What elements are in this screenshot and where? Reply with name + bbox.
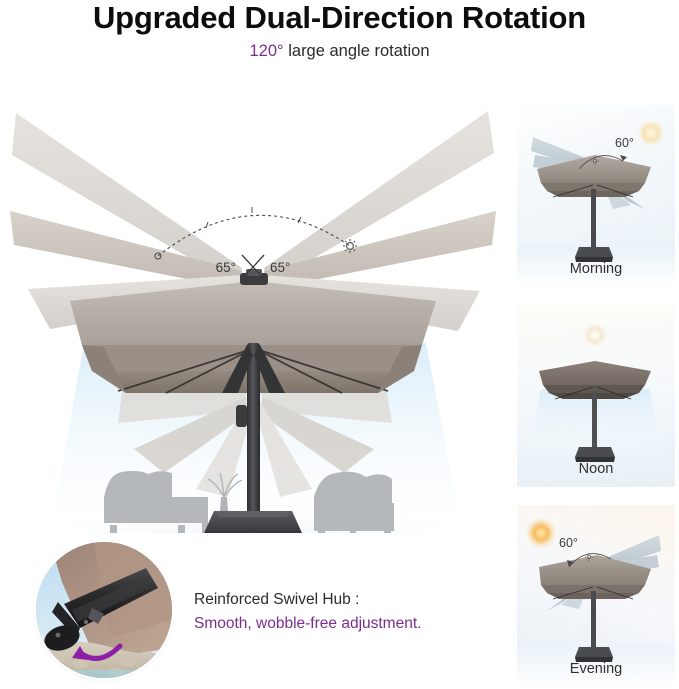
base xyxy=(575,447,615,457)
reinforced-swivel-hub-photo xyxy=(36,542,172,678)
panel-label-evening: Evening xyxy=(517,661,675,677)
main-rotation-illustration: 65° 65° xyxy=(6,93,506,533)
sun-icon xyxy=(637,119,665,147)
panel-evening: 60° Evening xyxy=(517,505,675,687)
canopy-top xyxy=(539,361,651,385)
feature-heading: Reinforced Swivel Hub : xyxy=(194,588,504,612)
angle-label-left: 65° xyxy=(216,260,236,275)
morning-illustration: 60° xyxy=(517,105,675,287)
base xyxy=(575,247,613,257)
pole xyxy=(591,189,596,247)
panel-angle-label: 60° xyxy=(559,536,578,550)
feature-text-block: Reinforced Swivel Hub : Smooth, wobble-f… xyxy=(194,588,504,636)
header: Upgraded Dual-Direction Rotation 120° la… xyxy=(0,0,679,90)
panel-morning: 60° Morning xyxy=(517,105,675,287)
sun-icon xyxy=(582,322,608,348)
umbrella-pole xyxy=(247,343,260,521)
subtitle-angle-value: 120° xyxy=(250,42,284,60)
swivel-hub-closeup xyxy=(36,542,172,678)
pole xyxy=(592,391,597,447)
sun-icon xyxy=(525,517,557,549)
angle-label-right: 65° xyxy=(270,260,290,275)
page-subtitle: 120° large angle rotation xyxy=(0,40,679,62)
umbrella-rotation-svg: 65° 65° xyxy=(6,93,506,533)
page-title: Upgraded Dual-Direction Rotation xyxy=(0,0,679,36)
noon-illustration xyxy=(517,305,675,487)
panel-label-noon: Noon xyxy=(517,461,675,477)
panel-noon: Noon xyxy=(517,305,675,487)
crank-handle xyxy=(236,405,247,427)
subtitle-rest-text: large angle rotation xyxy=(284,42,430,60)
umbrella-base xyxy=(204,511,302,533)
feature-description: Smooth, wobble-free adjustment. xyxy=(194,612,504,636)
feature-callout: Reinforced Swivel Hub : Smooth, wobble-f… xyxy=(22,536,502,686)
evening-illustration: 60° xyxy=(517,505,675,687)
base xyxy=(575,647,613,657)
panel-label-morning: Morning xyxy=(517,261,675,277)
pole xyxy=(591,591,596,647)
panel-angle-label: 60° xyxy=(615,136,634,150)
